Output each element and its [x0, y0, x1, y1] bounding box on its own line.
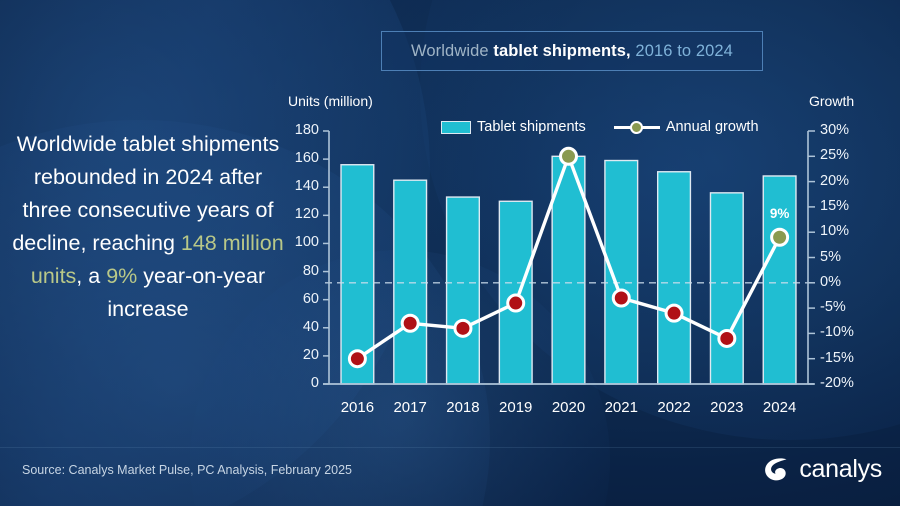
right-tick-label: 25% — [820, 147, 872, 163]
growth-marker-2022[interactable] — [666, 305, 682, 321]
x-tick-label-2019: 2019 — [486, 399, 546, 416]
right-tick-label: -5% — [820, 299, 872, 315]
left-tick-label-60: 60 — [275, 291, 319, 307]
x-tick-label-2024: 2024 — [750, 399, 810, 416]
left-tick-label-120: 120 — [275, 206, 319, 222]
x-tick-label-2023: 2023 — [697, 399, 757, 416]
canalys-wordmark: canalys — [799, 455, 882, 484]
left-tick-label-180: 180 — [275, 122, 319, 138]
growth-marker-2017[interactable] — [402, 315, 418, 331]
left-tick-label-160: 160 — [275, 150, 319, 166]
growth-marker-2023[interactable] — [719, 330, 735, 346]
left-tick-label-140: 140 — [275, 178, 319, 194]
bar-2023[interactable] — [710, 193, 743, 384]
right-tick-label: 5% — [820, 249, 872, 265]
footer-divider — [0, 447, 900, 448]
data-label-2024: 9% — [750, 206, 810, 221]
x-tick-label-2018: 2018 — [433, 399, 493, 416]
bar-2018[interactable] — [447, 197, 480, 384]
chart-plot-area — [0, 0, 900, 506]
x-tick-label-2016: 2016 — [327, 399, 387, 416]
growth-marker-2021[interactable] — [613, 290, 629, 306]
x-tick-label-2020: 2020 — [539, 399, 599, 416]
left-tick-label-80: 80 — [275, 263, 319, 279]
right-tick-label: 30% — [820, 122, 872, 138]
left-tick-label-40: 40 — [275, 319, 319, 335]
source-note: Source: Canalys Market Pulse, PC Analysi… — [22, 463, 352, 477]
canalys-swirl-icon — [762, 456, 792, 484]
growth-marker-2024[interactable] — [772, 229, 788, 245]
bar-2021[interactable] — [605, 161, 638, 384]
x-tick-label-2017: 2017 — [380, 399, 440, 416]
right-tick-label: 20% — [820, 173, 872, 189]
canalys-logo: canalys — [762, 455, 882, 484]
right-tick-label: -10% — [820, 324, 872, 340]
left-tick-label-100: 100 — [275, 234, 319, 250]
x-tick-label-2021: 2021 — [591, 399, 651, 416]
bar-2022[interactable] — [658, 172, 691, 384]
growth-marker-2019[interactable] — [508, 295, 524, 311]
right-tick-label: -15% — [820, 350, 872, 366]
right-tick-label: 10% — [820, 223, 872, 239]
left-tick-label-0: 0 — [275, 375, 319, 391]
right-tick-label: 0% — [820, 274, 872, 290]
growth-marker-2020[interactable] — [561, 148, 577, 164]
right-tick-label: 15% — [820, 198, 872, 214]
bar-2017[interactable] — [394, 180, 427, 384]
slide-canvas: Worldwide tablet shipments, 2016 to 2024… — [0, 0, 900, 506]
left-tick-label-20: 20 — [275, 347, 319, 363]
growth-marker-2018[interactable] — [455, 320, 471, 336]
x-tick-label-2022: 2022 — [644, 399, 704, 416]
right-tick-label: -20% — [820, 375, 872, 391]
growth-marker-2016[interactable] — [349, 351, 365, 367]
bar-2019[interactable] — [499, 201, 532, 384]
